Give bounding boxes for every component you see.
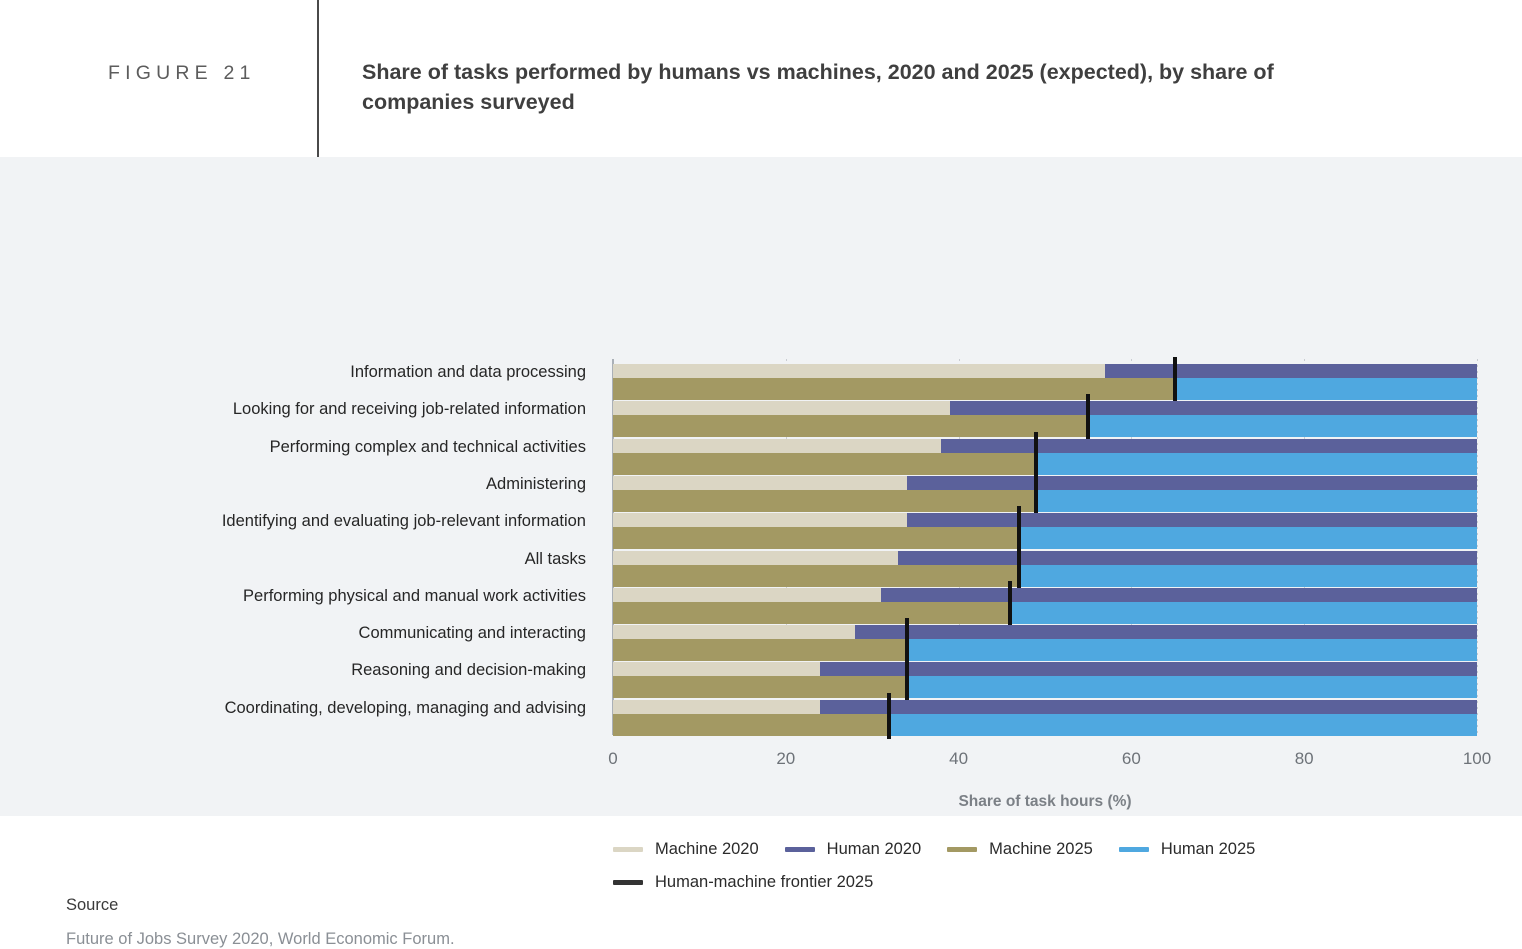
bar-segment-human-2020 [820,662,1477,676]
legend-item[interactable]: Human 2020 [785,840,921,859]
bar-group [613,547,1477,584]
legend-item-label: Human 2025 [1161,840,1255,859]
bar-segment-machine-2020 [613,513,907,527]
line-swatch-icon [613,880,643,885]
bar-2025 [613,714,1477,736]
chart-legend: Machine 2020Human 2020Machine 2025Human … [613,833,1493,899]
source-citation: Future of Jobs Survey 2020, World Econom… [66,930,455,949]
bar-2020 [613,625,1477,639]
category-label: Identifying and evaluating job-relevant … [0,512,586,531]
human-machine-frontier-marker [1034,469,1038,515]
bar-segment-machine-2020 [613,401,950,415]
human-machine-frontier-marker [1173,357,1177,403]
bar-segment-machine-2025 [613,714,889,736]
category-axis-labels: Information and data processingLooking f… [0,360,586,733]
human-machine-frontier-marker [905,655,909,701]
plot-area [613,360,1477,733]
bar-segment-human-2025 [889,714,1477,736]
bar-segment-human-2020 [950,401,1477,415]
legend-item[interactable]: Human 2025 [1119,840,1255,859]
bar-group [613,397,1477,434]
bar-segment-human-2020 [941,439,1477,453]
x-axis-tick-label: 80 [1264,749,1344,769]
bar-2020 [613,588,1477,602]
bar-group [613,360,1477,397]
figure-header: FIGURE 21 Share of tasks performed by hu… [0,0,1522,157]
legend-row-primary: Machine 2020Human 2020Machine 2025Human … [613,833,1493,866]
category-label: Looking for and receiving job-related in… [0,400,586,419]
bar-segment-human-2020 [881,588,1477,602]
bar-2020 [613,700,1477,714]
bar-segment-machine-2020 [613,700,820,714]
line-swatch-icon [785,847,815,852]
bar-segment-human-2020 [1105,364,1477,378]
category-label: Performing complex and technical activit… [0,438,586,457]
legend-item[interactable]: Machine 2020 [613,840,759,859]
human-machine-frontier-marker [1086,394,1090,440]
legend-item[interactable]: Human-machine frontier 2025 [613,873,873,892]
bar-segment-machine-2020 [613,662,820,676]
x-axis-tick-label: 40 [919,749,999,769]
header-divider [317,0,319,157]
bar-2020 [613,513,1477,527]
bar-segment-human-2020 [820,700,1477,714]
bar-segment-machine-2020 [613,439,941,453]
bar-segment-human-2020 [907,513,1477,527]
x-axis-tick-label: 0 [573,749,653,769]
bar-2020 [613,551,1477,565]
category-label: All tasks [0,550,586,569]
bar-segment-machine-2020 [613,364,1105,378]
line-swatch-icon [1119,847,1149,852]
category-label: Coordinating, developing, managing and a… [0,699,586,718]
bar-group [613,658,1477,695]
figure-number-label: FIGURE 21 [108,62,256,85]
chart-panel: Information and data processingLooking f… [0,157,1522,816]
category-label: Reasoning and decision-making [0,661,586,680]
bar-segment-machine-2020 [613,476,907,490]
category-label: Performing physical and manual work acti… [0,587,586,606]
page-title: Share of tasks performed by humans vs ma… [362,57,1322,117]
bar-segment-machine-2020 [613,588,881,602]
bar-group [613,472,1477,509]
figure-page: FIGURE 21 Share of tasks performed by hu… [0,0,1522,816]
legend-item-label: Machine 2025 [989,840,1093,859]
bar-2020 [613,476,1477,490]
bar-group [613,621,1477,658]
bar-group [613,509,1477,546]
bar-group [613,584,1477,621]
bar-2020 [613,662,1477,676]
line-swatch-icon [947,847,977,852]
bar-segment-human-2020 [898,551,1477,565]
x-axis-title: Share of task hours (%) [613,793,1477,811]
x-axis-tick-label: 20 [746,749,826,769]
bar-2020 [613,364,1477,378]
gridline [1477,359,1478,735]
bar-2020 [613,439,1477,453]
legend-item-label: Human-machine frontier 2025 [655,873,873,892]
category-label: Information and data processing [0,363,586,382]
source-label: Source [66,896,118,915]
bar-segment-human-2020 [855,625,1477,639]
legend-item-label: Machine 2020 [655,840,759,859]
category-label: Communicating and interacting [0,624,586,643]
human-machine-frontier-marker [1017,544,1021,590]
human-machine-frontier-marker [1008,581,1012,627]
bar-segment-machine-2020 [613,551,898,565]
legend-row-secondary: Human-machine frontier 2025 [613,866,1493,899]
bar-segment-human-2020 [907,476,1477,490]
x-axis-tick-label: 100 [1437,749,1517,769]
x-axis-tick-label: 60 [1091,749,1171,769]
legend-item[interactable]: Machine 2025 [947,840,1093,859]
legend-item-label: Human 2020 [827,840,921,859]
bar-segment-machine-2020 [613,625,855,639]
bar-group [613,435,1477,472]
bar-2020 [613,401,1477,415]
category-label: Administering [0,475,586,494]
human-machine-frontier-marker [887,693,891,739]
line-swatch-icon [613,847,643,852]
bar-group [613,696,1477,733]
